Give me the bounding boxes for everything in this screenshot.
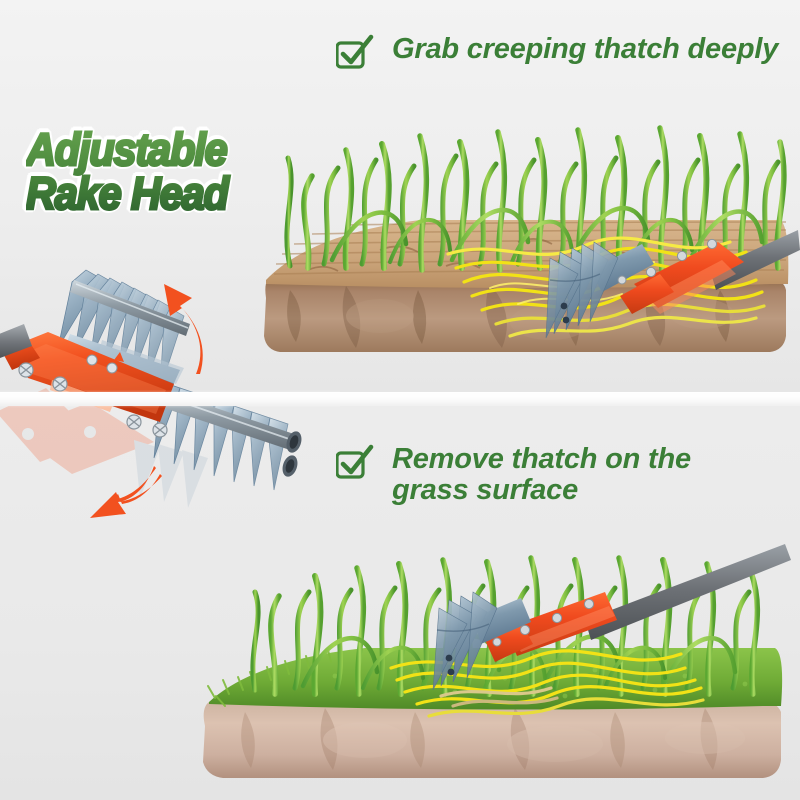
feature-headline-grab: Grab creeping thatch deeply — [392, 34, 778, 65]
bottom-scene — [185, 500, 800, 800]
feature-headline-remove: Remove thatch on the grass surface — [392, 444, 691, 506]
infographic-canvas: Adjustable Rake Head Grab creeping thatc… — [0, 0, 800, 800]
checkbox-checked-icon — [336, 444, 374, 482]
bottom-scene-illustration — [185, 500, 800, 800]
top-scene — [250, 84, 800, 396]
arrow-down-icon — [90, 466, 162, 518]
panel-divider — [0, 392, 800, 406]
checkbox-checked-icon — [336, 34, 374, 72]
page-title: Adjustable Rake Head — [26, 128, 293, 216]
top-scene-illustration — [250, 84, 800, 396]
